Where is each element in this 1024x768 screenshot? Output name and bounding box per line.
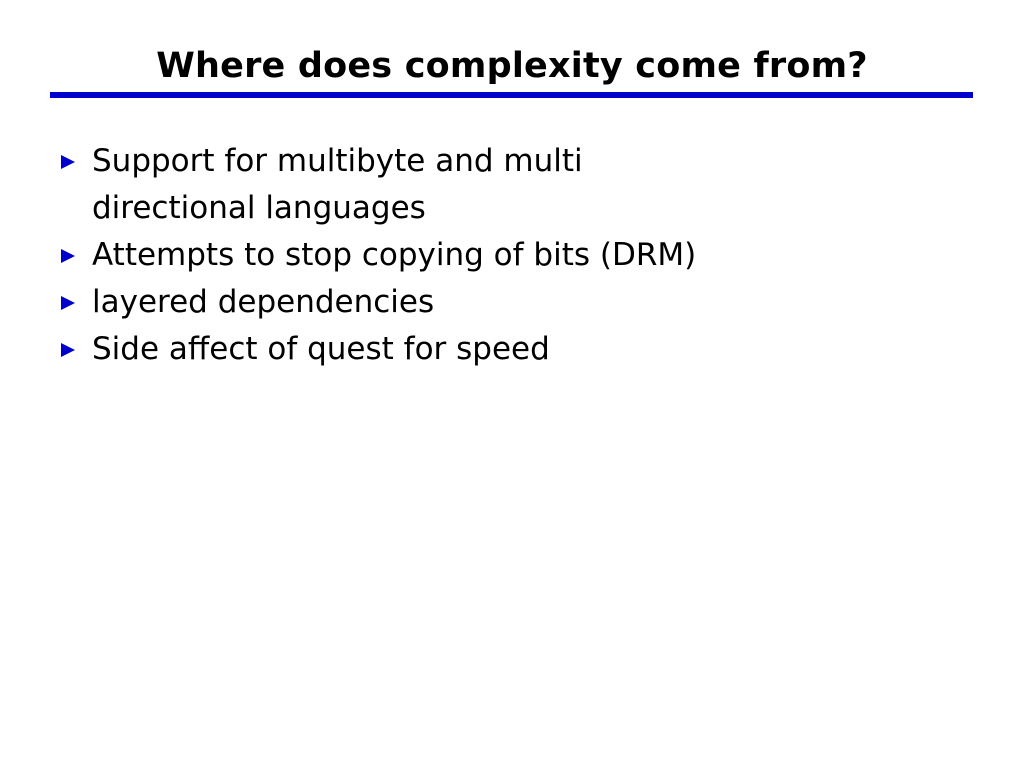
triangle-right-bullet-icon: [58, 138, 82, 185]
list-item-label: Attempts to stop copying of bits (DRM): [92, 232, 936, 279]
bullet-list: Support for multibyte and multi directio…: [56, 138, 936, 373]
title-underline-rule: [50, 92, 973, 98]
list-item: Attempts to stop copying of bits (DRM): [56, 232, 936, 279]
list-item: Support for multibyte and multi directio…: [56, 138, 936, 232]
presentation-slide: Where does complexity come from? Support…: [0, 0, 1024, 768]
list-item-label: Side affect of quest for speed: [92, 326, 936, 373]
triangle-right-bullet-icon: [58, 326, 82, 373]
slide-body: Support for multibyte and multi directio…: [56, 138, 936, 373]
page-title: Where does complexity come from?: [50, 44, 974, 88]
list-item-label: Support for multibyte and multi directio…: [92, 138, 742, 232]
list-item: Side affect of quest for speed: [56, 326, 936, 373]
title-block: Where does complexity come from?: [50, 44, 974, 88]
list-item: layered dependencies: [56, 279, 936, 326]
list-item-label: layered dependencies: [92, 279, 936, 326]
triangle-right-bullet-icon: [58, 232, 82, 279]
triangle-right-bullet-icon: [58, 279, 82, 326]
